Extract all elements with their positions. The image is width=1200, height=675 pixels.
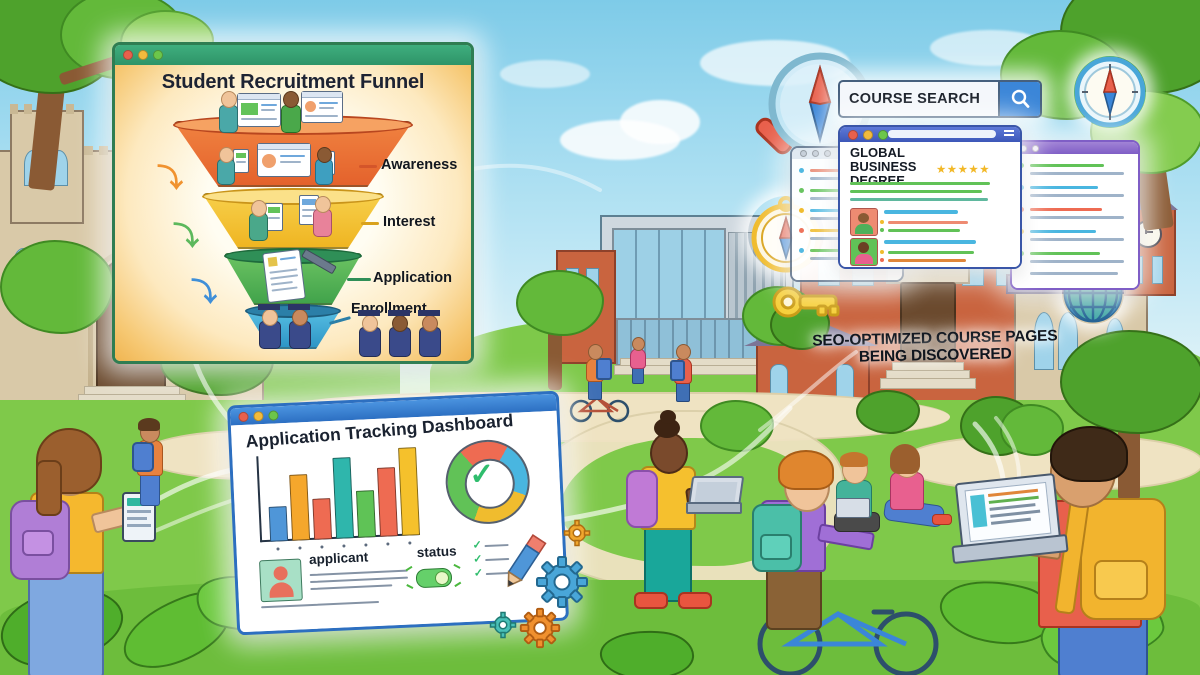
profile-card-icon (301, 91, 343, 123)
funnel-person-icon (221, 91, 237, 108)
funnel-connector (361, 222, 379, 225)
result-line (1030, 230, 1096, 233)
funnel-person-icon (219, 147, 234, 163)
application-tracking-dashboard-window[interactable]: Application Tracking Dashboard (227, 391, 569, 636)
funnel-connector (359, 165, 377, 168)
maximize-icon[interactable] (824, 150, 831, 157)
minimize-icon[interactable] (138, 50, 148, 60)
compass-icon (1074, 56, 1146, 128)
checkmark-icon: ✓ (469, 460, 495, 491)
applicant-detail-line (310, 570, 408, 576)
bar-5 (356, 490, 376, 538)
toggle-sparkle (406, 584, 413, 589)
toggle-sparkle (453, 564, 460, 569)
result-line (1030, 186, 1098, 189)
result-window-titlebar[interactable] (1012, 142, 1138, 154)
address-bar[interactable] (888, 130, 996, 138)
funnel-person-icon (283, 91, 299, 108)
bar-4 (332, 457, 354, 539)
bullet-dot (880, 220, 884, 224)
course-item-line (888, 259, 966, 262)
course-item-line (884, 210, 958, 214)
checkmark-icon: ✓ (473, 554, 483, 565)
avatar (259, 558, 303, 602)
dashboard-body: Application Tracking Dashboard (231, 411, 566, 633)
bush (856, 390, 920, 434)
funnel-label-application: Application (373, 270, 452, 286)
bar-2 (289, 474, 310, 541)
graduate-cap-icon (388, 310, 410, 316)
course-thumbnail (850, 208, 878, 236)
application-form-icon (262, 249, 306, 303)
result-line (1030, 164, 1104, 167)
student-recruitment-funnel-window[interactable]: Student Recruitment Funnel ⤵ ⤵ ⤵ Awarene… (112, 42, 474, 364)
smartphone-icon (233, 149, 249, 173)
result-line (1030, 252, 1100, 255)
result-line (1030, 208, 1102, 211)
course-search-input[interactable]: COURSE SEARCH (840, 91, 998, 107)
close-icon[interactable] (848, 130, 858, 140)
flow-arrow-icon: ⤵ (191, 279, 217, 305)
toggle-sparkle (454, 582, 461, 587)
funnel-window-titlebar[interactable] (115, 45, 471, 65)
course-search-bar[interactable]: COURSE SEARCH (838, 80, 1042, 118)
flow-arrow-icon: ⤵ (173, 223, 199, 249)
gear-icon (490, 612, 516, 638)
gear-icon (536, 556, 588, 608)
applications-bar-chart (256, 449, 420, 542)
graduate-icon (262, 309, 278, 326)
bar-3 (312, 498, 332, 540)
funnel-person-icon (251, 200, 267, 217)
course-thumbnail (850, 238, 878, 266)
profile-card-icon (257, 143, 311, 177)
funnel-connector (347, 278, 371, 281)
result-line (1030, 260, 1124, 263)
status-toggle-switch[interactable] (416, 568, 453, 589)
hamburger-menu-icon[interactable] (1004, 130, 1014, 138)
bullet-dot (799, 188, 804, 193)
bullet-dot (880, 228, 884, 232)
graduate-cap-icon (258, 304, 280, 310)
browser-window-icon (237, 93, 281, 127)
graduate-icon (362, 315, 378, 332)
bush (700, 400, 774, 452)
graduate-icon (292, 309, 308, 326)
result-list-right (1012, 154, 1138, 288)
applicant-detail-line (310, 577, 408, 583)
result-line (1030, 216, 1124, 219)
course-desc-line (850, 198, 988, 201)
bullet-dot (880, 250, 884, 254)
bar-7 (398, 447, 420, 536)
funnel-person-icon (281, 105, 301, 133)
gear-icon (564, 520, 590, 546)
close-icon[interactable] (123, 50, 133, 60)
cloud-icon (500, 60, 590, 88)
laptop-icon (836, 498, 870, 518)
bullet-dot (799, 248, 804, 253)
rating-stars: ★★★★★ (936, 162, 990, 176)
bush (0, 240, 114, 334)
result-line (1030, 272, 1118, 275)
course-desc-line (850, 190, 982, 193)
close-icon[interactable] (238, 411, 248, 421)
bar-6 (377, 467, 398, 537)
course-item-line (888, 251, 974, 254)
brick-hall-steps (880, 378, 976, 389)
status-label: status (416, 543, 456, 560)
key-icon (770, 276, 840, 328)
course-result-window[interactable]: GLOBAL BUSINESS DEGREE ★★★★★ (838, 125, 1022, 269)
course-result-body: GLOBAL BUSINESS DEGREE ★★★★★ (840, 142, 1020, 267)
graduate-cap-icon (358, 310, 380, 316)
funnel-person-icon (317, 147, 332, 163)
minimize-icon[interactable] (812, 150, 819, 157)
gear-icon (520, 608, 560, 648)
status-donut-chart: ✓ (444, 438, 532, 526)
illustration-canvas: Student Recruitment Funnel ⤵ ⤵ ⤵ Awarene… (0, 0, 1200, 675)
minimize-icon[interactable] (1032, 145, 1039, 152)
maximize-icon[interactable] (878, 130, 888, 140)
applicant-detail-line (261, 601, 379, 608)
magnifier-icon (1010, 89, 1030, 109)
applicant-detail-line (310, 584, 392, 590)
result-line (1030, 238, 1124, 241)
minimize-icon[interactable] (253, 411, 263, 421)
course-item-line (884, 240, 976, 244)
bullet-dot (799, 208, 804, 213)
funnel-person-icon (219, 105, 238, 133)
graduate-cap-icon (418, 310, 440, 316)
close-icon[interactable] (800, 150, 807, 157)
tower-window (1152, 256, 1163, 284)
result-line (1030, 194, 1124, 197)
search-button[interactable] (998, 82, 1040, 116)
graduate-cap-icon (288, 304, 310, 310)
funnel-label-interest: Interest (383, 214, 435, 230)
bullet-dot (799, 228, 804, 233)
maximize-icon[interactable] (153, 50, 163, 60)
chart-y-axis (256, 456, 262, 542)
funnel-label-awareness: Awareness (381, 157, 457, 173)
course-item-line (888, 229, 960, 232)
course-window-titlebar[interactable] (840, 127, 1020, 142)
checkmark-icon: ✓ (474, 568, 484, 579)
applicant-label: applicant (309, 549, 369, 567)
flow-arrow-icon: ⤵ (157, 165, 183, 191)
funnel-stage-rim (202, 188, 384, 205)
bar-1 (269, 506, 289, 542)
funnel-person-icon (249, 213, 268, 241)
house-window (836, 364, 854, 400)
tree-foliage (516, 270, 604, 336)
search-result-window-right[interactable] (1010, 140, 1140, 290)
bullet-dot (880, 258, 884, 262)
checkmark-icon: ✓ (472, 540, 482, 551)
graduate-icon (422, 315, 438, 332)
bullet-dot (799, 168, 804, 173)
cloud-icon (620, 100, 700, 144)
maximize-icon[interactable] (268, 410, 278, 420)
course-item-line (888, 221, 968, 224)
toggle-sparkle (406, 566, 413, 571)
minimize-icon[interactable] (863, 130, 873, 140)
funnel-person-icon (313, 209, 332, 237)
seo-caption: SEO-OPTIMIZED COURSE PAGES BEING DISCOVE… (806, 327, 1065, 366)
course-desc-line (850, 182, 990, 185)
graduate-icon (392, 315, 408, 332)
library-glass-facade (612, 228, 726, 322)
funnel-window-body: Student Recruitment Funnel ⤵ ⤵ ⤵ Awarene… (115, 65, 471, 361)
result-line (1030, 172, 1124, 175)
funnel-person-icon (315, 196, 331, 213)
